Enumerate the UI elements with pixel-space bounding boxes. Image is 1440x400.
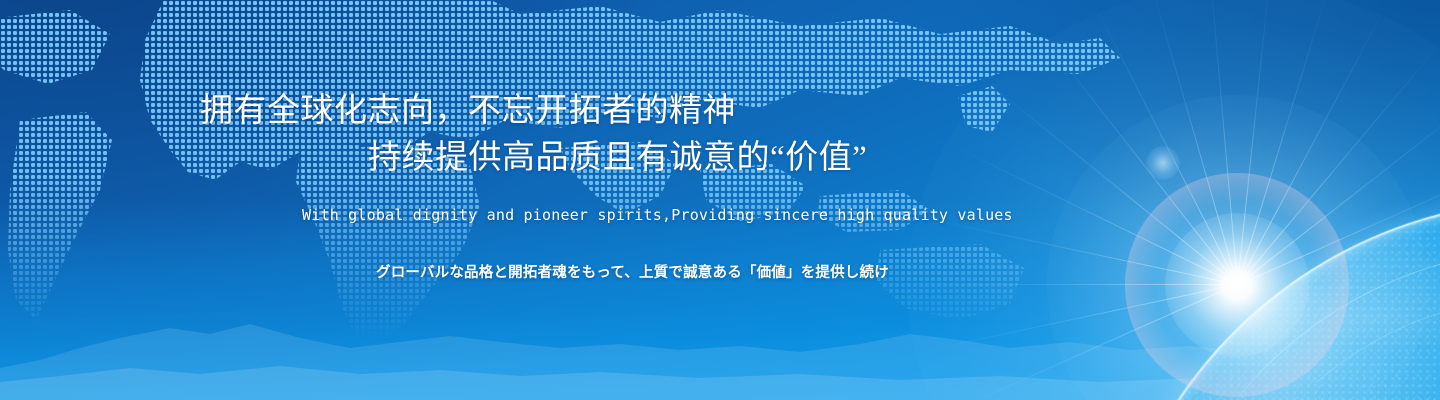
banner-subtitle-english: With global dignity and pioneer spirits,… [302,206,1013,224]
headline-line-2: 持续提供高品质且有诚意的“价值” [200,135,1200,182]
banner-headline: 拥有全球化志向，不忘开拓者的精神 持续提供高品质且有诚意的“价值” [200,88,1200,182]
banner-copy: 拥有全球化志向，不忘开拓者的精神 持续提供高品质且有诚意的“价值” With g… [0,0,1440,400]
hero-banner: 拥有全球化志向，不忘开拓者的精神 持续提供高品质且有诚意的“价值” With g… [0,0,1440,400]
banner-subtitle-japanese: グローバルな品格と開拓者魂をもって、上質で誠意ある「価値」を提供し続け [376,261,889,282]
headline-line-1: 拥有全球化志向，不忘开拓者的精神 [200,93,736,129]
